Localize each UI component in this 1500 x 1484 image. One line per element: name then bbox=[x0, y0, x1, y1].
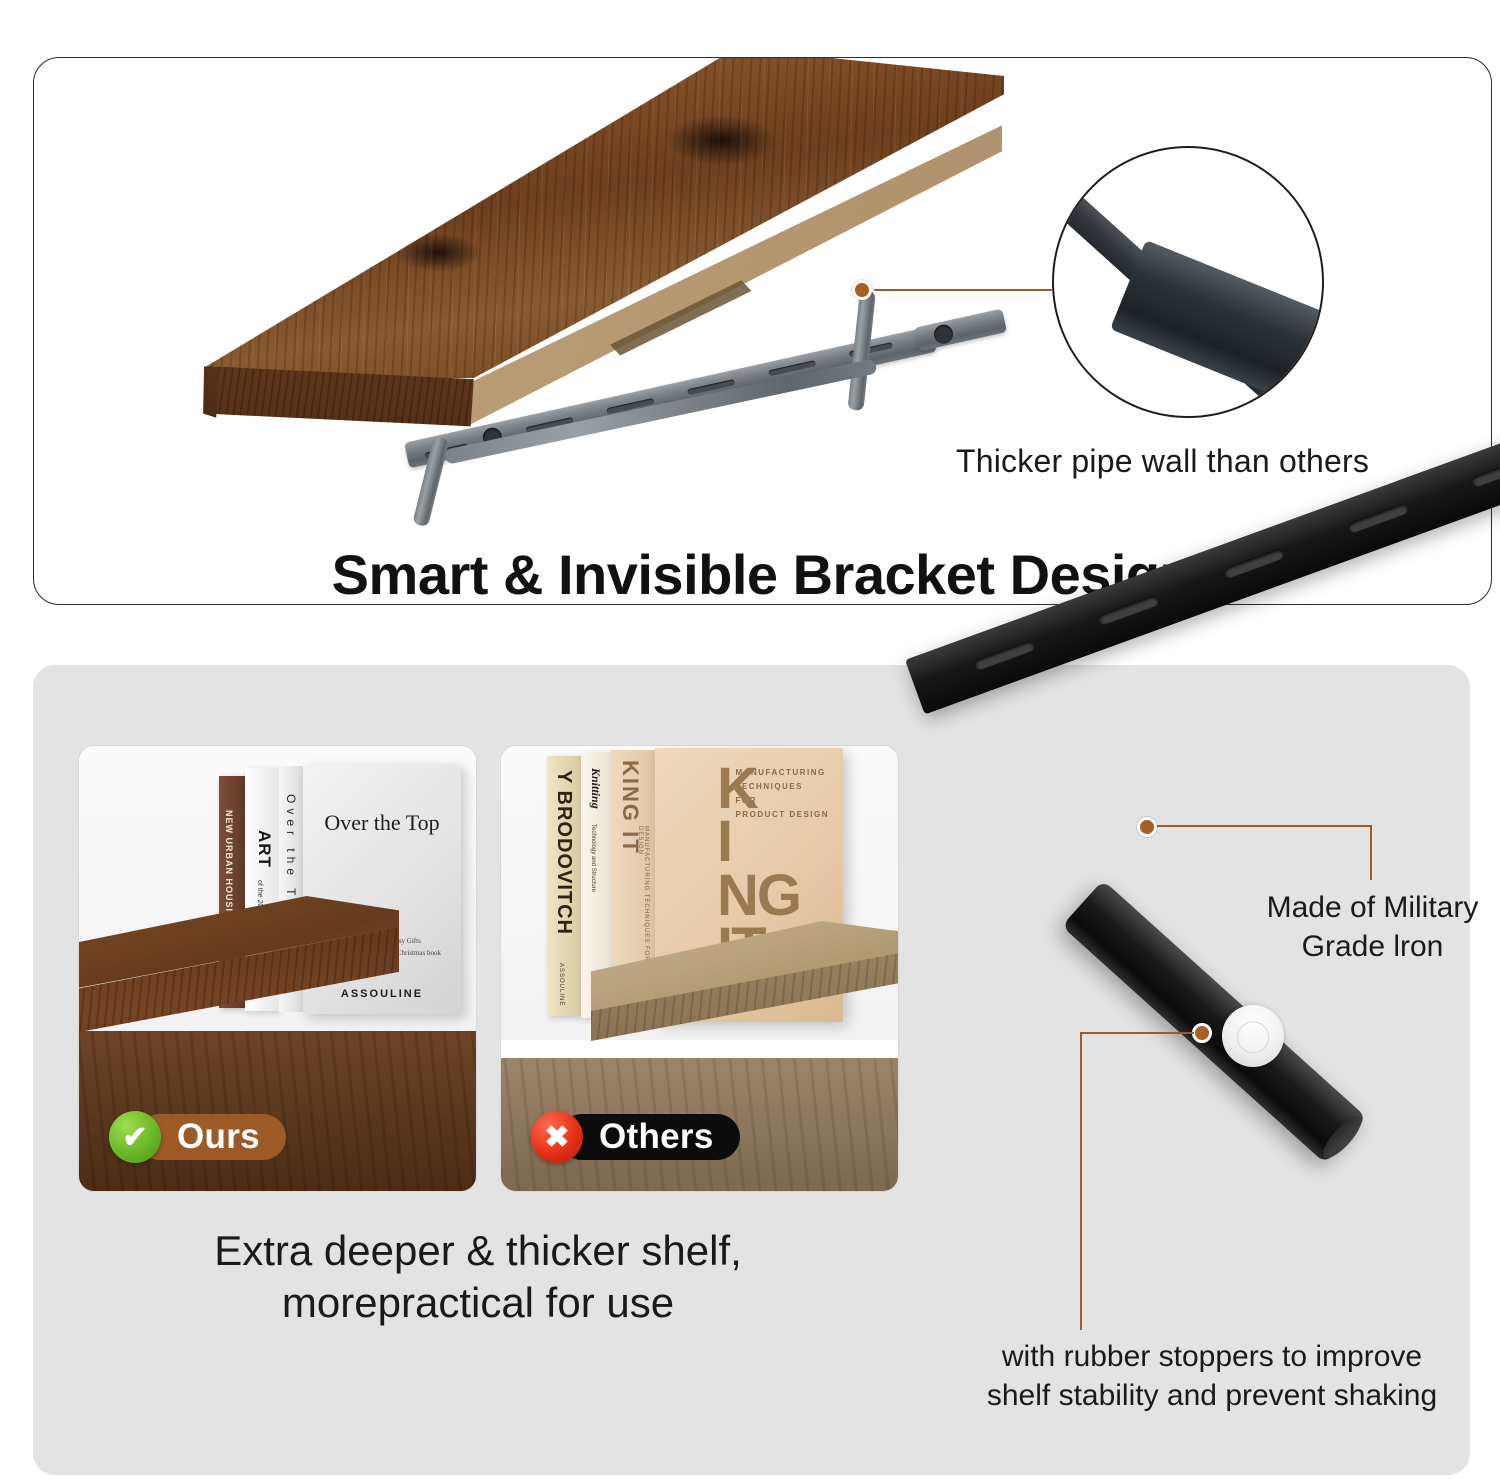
stopper-callout-dot-icon bbox=[1192, 1023, 1212, 1043]
comparison-caption: Extra deeper & thicker shelf, morepracti… bbox=[73, 1225, 883, 1328]
bracket-slot bbox=[1223, 548, 1285, 580]
top-feature-card: Thicker pipe wall than others Smart & In… bbox=[33, 57, 1492, 605]
badge-label-others: Others bbox=[559, 1114, 740, 1160]
book-cover-title: Over the Top bbox=[303, 810, 461, 836]
material-callout-dot-icon bbox=[1137, 817, 1157, 837]
material-line-1: Made of Military bbox=[1250, 888, 1495, 927]
bracket-slot bbox=[973, 639, 1035, 671]
caption-line-2: morepractical for use bbox=[73, 1277, 883, 1329]
bracket-slot bbox=[1471, 456, 1500, 488]
zoom-pipe-wall bbox=[1110, 240, 1324, 418]
stopper-line-2: shelf stability and prevent shaking bbox=[952, 1376, 1472, 1415]
stopper-leader-horizontal bbox=[1080, 1032, 1194, 1034]
stopper-annotation: with rubber stoppers to improve shelf st… bbox=[952, 1337, 1472, 1415]
material-leader-vertical bbox=[1370, 825, 1372, 880]
badge-ours: ✔ Ours bbox=[109, 1111, 286, 1163]
stopper-line-1: with rubber stoppers to improve bbox=[952, 1337, 1472, 1376]
badge-others: ✖ Others bbox=[531, 1111, 740, 1163]
bracket-slot bbox=[1097, 594, 1159, 626]
material-leader-horizontal bbox=[1157, 825, 1372, 827]
material-annotation: Made of Military Grade lron bbox=[1250, 888, 1495, 966]
comparison-panel-ours: NEW URBAN HOUSING ART of the 20th Centur… bbox=[78, 745, 477, 1192]
caption-line-1: Extra deeper & thicker shelf, bbox=[73, 1225, 883, 1277]
book-spine-brodovitch: Y BRODOVITCH ASSOULINE bbox=[547, 756, 581, 1016]
bracket-screw-hole bbox=[932, 323, 955, 346]
infographic-page: Thicker pipe wall than others Smart & In… bbox=[0, 0, 1500, 1484]
check-icon: ✔ bbox=[109, 1111, 161, 1163]
main-subtitle: For Easy Mounting bbox=[34, 601, 1491, 605]
comparison-panel-others: Y BRODOVITCH ASSOULINE Knitting Technolo… bbox=[500, 745, 899, 1192]
material-line-2: Grade lron bbox=[1250, 927, 1495, 966]
callout-dot-icon bbox=[852, 280, 872, 300]
thicker-pipe-caption: Thicker pipe wall than others bbox=[956, 443, 1476, 480]
callout-leader-line bbox=[874, 289, 1052, 291]
bracket-slot bbox=[1347, 502, 1409, 534]
stopper-leader-vertical bbox=[1080, 1032, 1082, 1330]
zoom-detail-circle bbox=[1052, 146, 1324, 418]
cross-icon: ✖ bbox=[531, 1111, 583, 1163]
book-publisher: ASSOULINE bbox=[303, 988, 461, 1000]
